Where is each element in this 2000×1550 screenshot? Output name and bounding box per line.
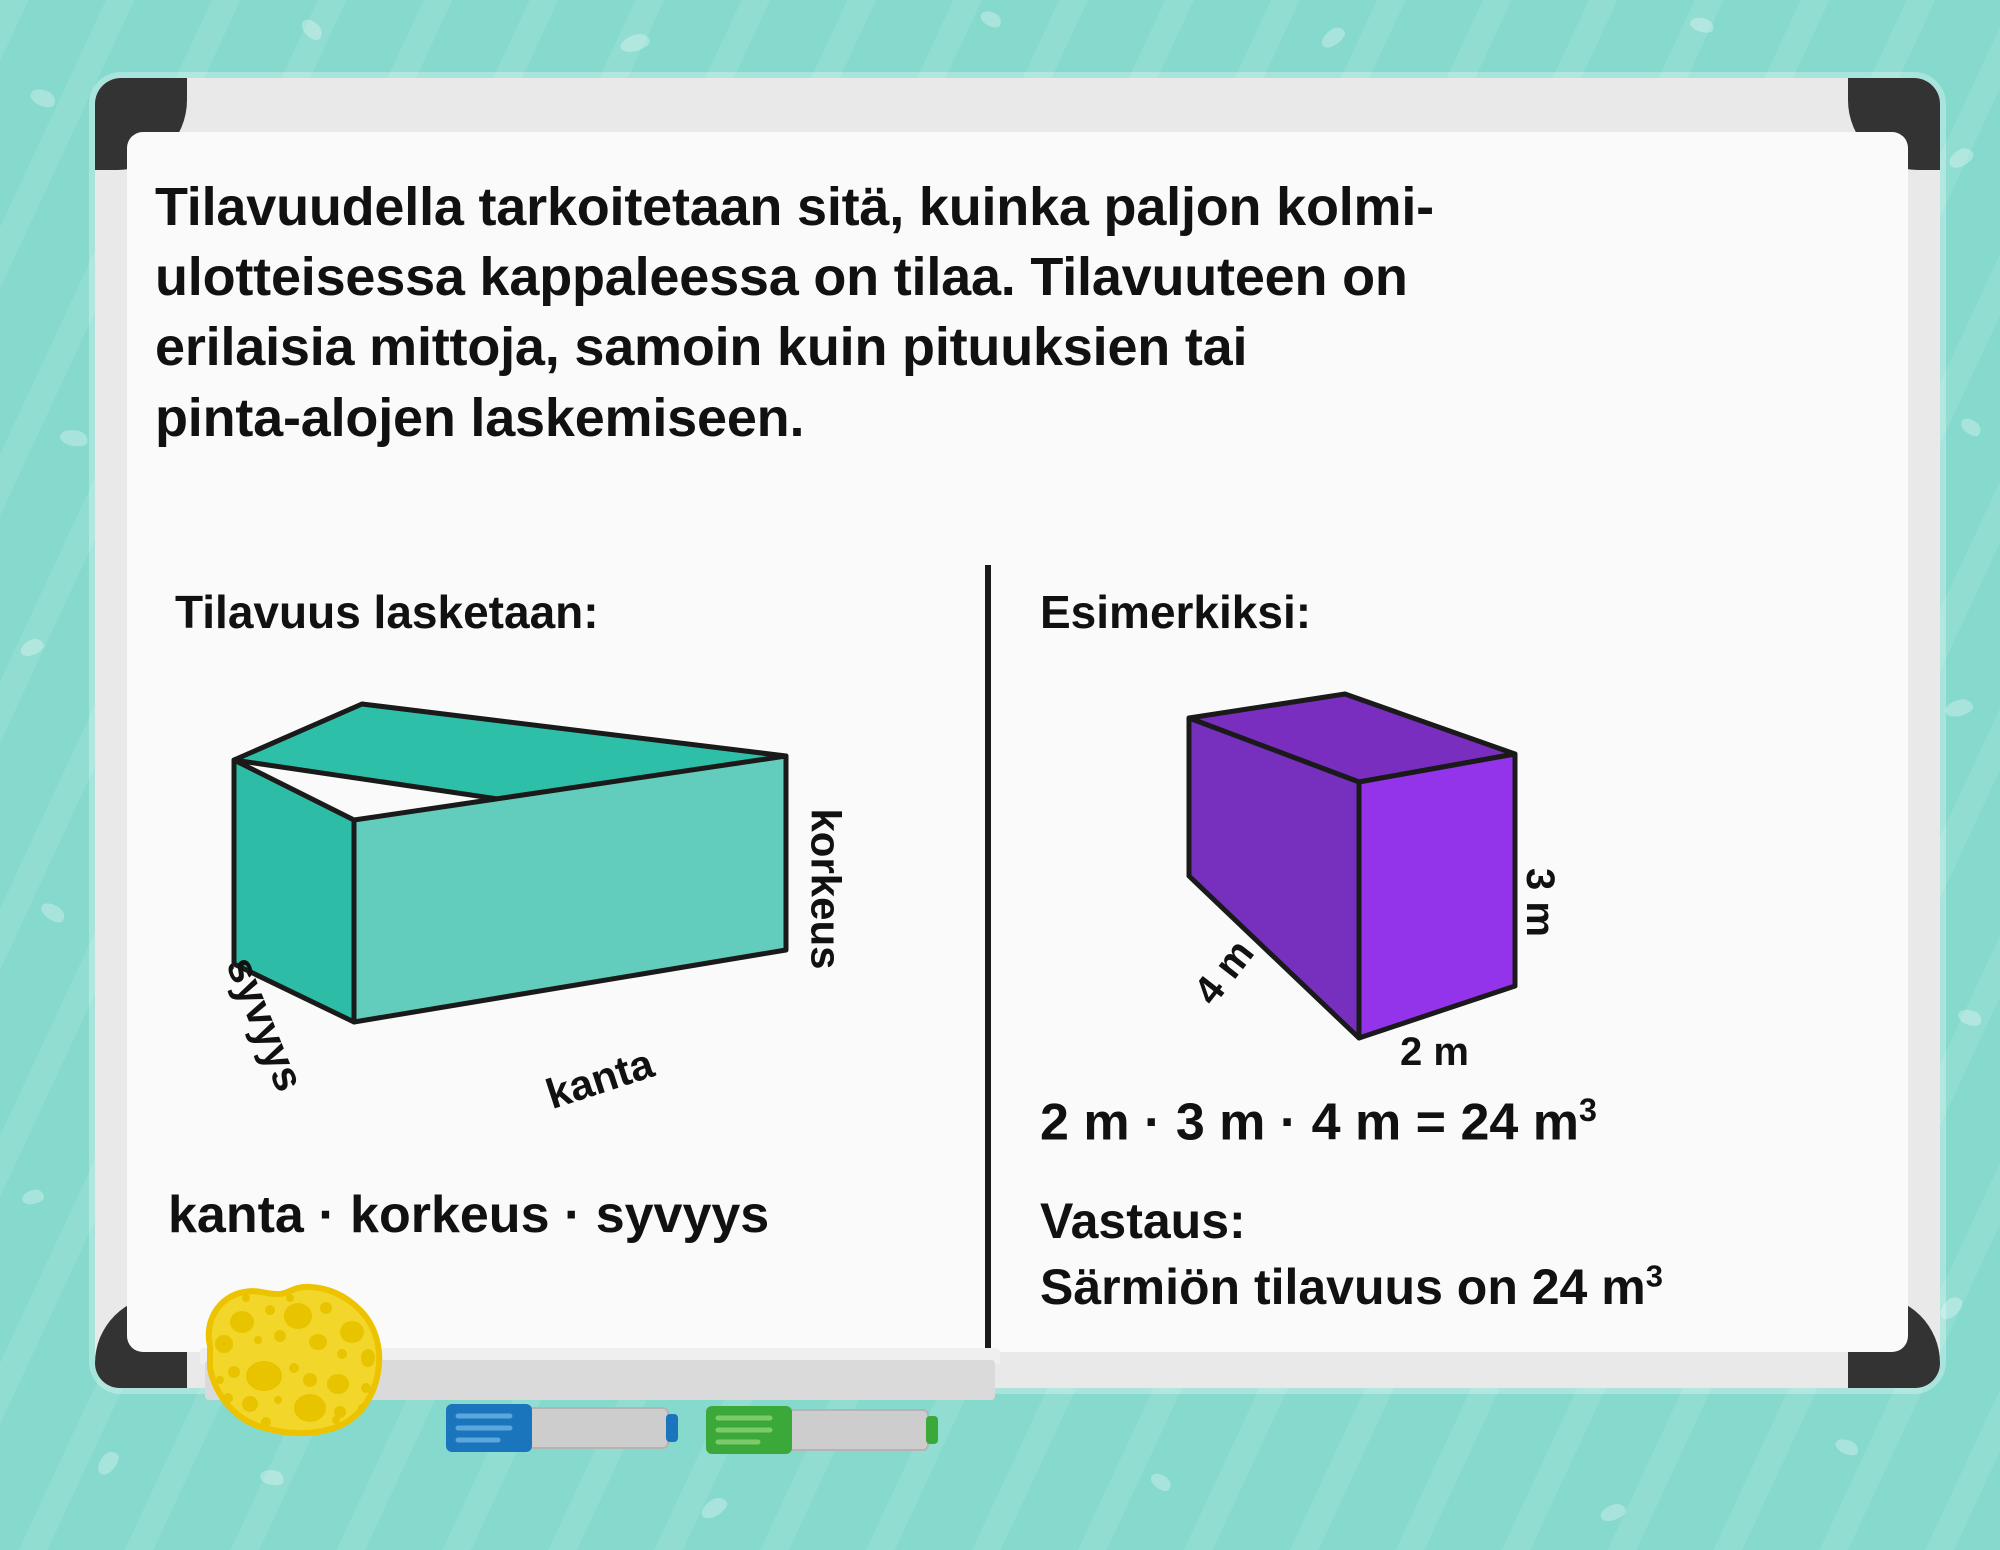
confetti-shape — [59, 427, 90, 448]
calculation-line: 2 m · 3 m · 4 m = 24 m3 — [1040, 1092, 1597, 1152]
cuboid-front-face — [354, 756, 786, 1022]
confetti-shape — [698, 1494, 730, 1522]
confetti-shape — [1956, 1006, 1984, 1029]
volume-formula: kanta · korkeus · syvyys — [168, 1185, 769, 1245]
teal-height-label: korkeus — [802, 808, 850, 969]
confetti-shape — [1946, 145, 1976, 171]
purple-height-label: 3 m — [1517, 868, 1562, 937]
purple-base-label: 2 m — [1400, 1030, 1469, 1075]
intro-line: Tilavuudella tarkoitetaan sitä, kuinka p… — [155, 172, 1725, 242]
column-divider — [985, 565, 991, 1365]
confetti-shape — [258, 1467, 285, 1488]
intro-line: erilaisia mittoja, samoin kuin pituuksie… — [155, 312, 1725, 382]
confetti-shape — [1598, 1501, 1627, 1523]
confetti-shape — [21, 1188, 45, 1206]
confetti-shape — [1318, 24, 1348, 51]
answer-exponent: 3 — [1646, 1258, 1663, 1293]
intro-line: pinta-alojen laskemiseen. — [155, 383, 1725, 453]
answer-text: Särmiön tilavuus on 24 m — [1040, 1259, 1646, 1315]
confetti-shape — [38, 899, 68, 926]
marker-body — [526, 1408, 668, 1448]
confetti-shape — [1833, 1435, 1861, 1458]
cuboid-front-face — [1359, 754, 1515, 1038]
intro-line: ulotteisessa kappaleessa on tilaa. Tilav… — [155, 242, 1725, 312]
confetti-shape — [298, 16, 325, 44]
green-marker-icon[interactable] — [700, 1402, 950, 1457]
intro-paragraph: Tilavuudella tarkoitetaan sitä, kuinka p… — [155, 172, 1725, 453]
answer-label: Vastaus: — [1040, 1192, 1246, 1250]
left-column-heading: Tilavuus lasketaan: — [175, 585, 599, 639]
teal-cuboid-diagram — [230, 700, 790, 1090]
calculation-text: 2 m · 3 m · 4 m = 24 m — [1040, 1093, 1579, 1151]
marker-tip — [666, 1414, 678, 1442]
confetti-shape — [618, 31, 651, 54]
confetti-shape — [18, 636, 46, 659]
confetti-shape — [28, 85, 58, 110]
sponge-icon[interactable] — [190, 1280, 400, 1440]
blue-marker-icon[interactable] — [440, 1400, 690, 1455]
confetti-shape — [1936, 1293, 1966, 1323]
confetti-shape — [1958, 415, 1984, 440]
confetti-shape — [1944, 697, 1975, 718]
answer-sentence: Särmiön tilavuus on 24 m3 — [1040, 1258, 1663, 1316]
confetti-shape — [94, 1448, 123, 1478]
confetti-shape — [1688, 15, 1715, 36]
confetti-shape — [1148, 1470, 1174, 1495]
right-column-heading: Esimerkiksi: — [1040, 585, 1311, 639]
marker-body — [786, 1410, 928, 1450]
marker-tip — [926, 1416, 938, 1444]
confetti-shape — [978, 7, 1004, 30]
calculation-exponent: 3 — [1579, 1092, 1597, 1128]
